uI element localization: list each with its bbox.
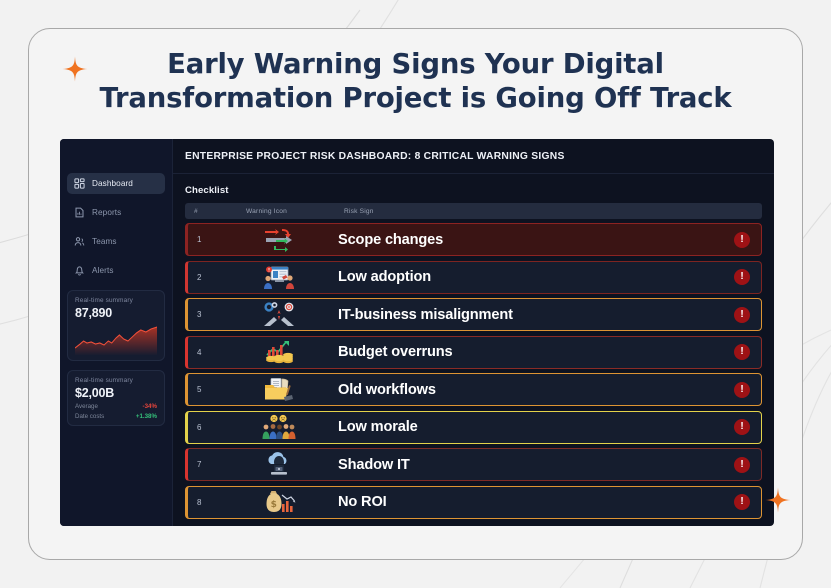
sparkline-chart <box>75 324 157 355</box>
alert-icon: ! <box>734 269 750 285</box>
row-badge[interactable]: ! <box>723 307 761 323</box>
row-number: 2 <box>197 273 240 282</box>
no-roi-moneybag-icon: $ <box>240 489 338 515</box>
sidebar-item-alerts[interactable]: Alerts <box>67 260 165 281</box>
old-workflow-folder-icon <box>240 377 338 403</box>
risk-sign-label: Low morale <box>338 419 723 435</box>
dashboard-header: ENTERPRISE PROJECT RISK DASHBOARD: 8 CRI… <box>173 139 774 174</box>
row-number: 6 <box>197 423 240 432</box>
sidebar-item-dashboard[interactable]: Dashboard <box>67 173 165 194</box>
row-badge[interactable]: ! <box>723 344 761 360</box>
page-title: Early Warning Signs Your Digital Transfo… <box>28 48 803 115</box>
shadow-it-cloud-icon <box>240 452 338 478</box>
sidebar-item-label: Teams <box>92 237 117 246</box>
column-header-number: # <box>194 208 246 215</box>
summary-card-label: Real-time summary <box>75 377 157 384</box>
risk-sign-label: Old workflows <box>338 382 723 398</box>
table-row[interactable]: 7 Shadow IT ! <box>185 448 762 481</box>
bell-icon <box>74 265 85 276</box>
checklist-rows: 1 Scope changes ! <box>185 223 762 519</box>
table-row[interactable]: 1 Scope changes ! <box>185 223 762 256</box>
section-title-checklist: Checklist <box>185 185 762 196</box>
dashboard-main: ENTERPRISE PROJECT RISK DASHBOARD: 8 CRI… <box>173 139 774 526</box>
table-row[interactable]: 6 <box>185 411 762 444</box>
sidebar-item-teams[interactable]: Teams <box>67 231 165 252</box>
dashboard-content: Checklist # Warning Icon Risk Sign 1 <box>173 174 774 526</box>
row-number: 5 <box>197 385 240 394</box>
svg-text:!: ! <box>268 267 270 273</box>
document-chart-icon <box>74 207 85 218</box>
dashboard-header-title: ENTERPRISE PROJECT RISK DASHBOARD: 8 CRI… <box>185 151 565 162</box>
summary-metric-date-costs: Date costs +1.38% <box>75 413 157 420</box>
svg-text:$: $ <box>271 500 277 510</box>
alert-icon: ! <box>734 382 750 398</box>
table-header-row: # Warning Icon Risk Sign <box>185 203 762 219</box>
scope-change-arrows-icon <box>240 227 338 253</box>
risk-sign-label: Shadow IT <box>338 457 723 473</box>
summary-card-label: Real-time summary <box>75 297 157 304</box>
misalignment-gears-icon <box>240 302 338 328</box>
metric-key: Date costs <box>75 413 104 420</box>
alert-icon: ! <box>734 419 750 435</box>
low-adoption-users-icon: ! <box>240 264 338 290</box>
summary-card-value: 87,890 <box>75 306 157 320</box>
row-number: 3 <box>197 310 240 319</box>
risk-sign-label: Low adoption <box>338 269 723 285</box>
low-morale-people-icon <box>240 414 338 440</box>
table-row[interactable]: 5 Old workflows ! <box>185 373 762 406</box>
budget-overrun-chart-icon <box>240 339 338 365</box>
summary-card-revenue: Real-time summary $2,00B Average -34% Da… <box>67 370 165 426</box>
table-row[interactable]: 4 <box>185 336 762 369</box>
summary-metric-average: Average -34% <box>75 403 157 410</box>
column-header-warning-icon: Warning Icon <box>246 208 344 215</box>
risk-sign-label: No ROI <box>338 494 723 510</box>
row-number: 8 <box>197 498 240 507</box>
alert-icon: ! <box>734 457 750 473</box>
row-badge[interactable]: ! <box>723 269 761 285</box>
risk-sign-label: Budget overruns <box>338 344 723 360</box>
people-icon <box>74 236 85 247</box>
row-badge[interactable]: ! <box>723 419 761 435</box>
sidebar-item-label: Dashboard <box>92 179 133 188</box>
table-row[interactable]: 2 ! <box>185 261 762 294</box>
alert-icon: ! <box>734 232 750 248</box>
sidebar: Dashboard Reports Teams Alerts <box>60 139 173 526</box>
sidebar-item-reports[interactable]: Reports <box>67 202 165 223</box>
row-badge[interactable]: ! <box>723 457 761 473</box>
metric-key: Average <box>75 403 98 410</box>
row-number: 4 <box>197 348 240 357</box>
summary-card-visits: Real-time summary 87,890 <box>67 290 165 361</box>
metric-value: -34% <box>143 403 157 410</box>
page-title-wrapper: Early Warning Signs Your Digital Transfo… <box>28 48 803 115</box>
sidebar-item-label: Reports <box>92 208 121 217</box>
column-header-risk-sign: Risk Sign <box>344 208 753 215</box>
row-number: 1 <box>197 235 240 244</box>
alert-icon: ! <box>734 344 750 360</box>
table-row[interactable]: 8 $ No ROI ! <box>185 486 762 519</box>
risk-sign-label: IT-business misalignment <box>338 307 723 323</box>
risk-sign-label: Scope changes <box>338 232 723 248</box>
alert-icon: ! <box>734 494 750 510</box>
summary-card-value: $2,00B <box>75 386 157 400</box>
metric-value: +1.38% <box>136 413 157 420</box>
row-badge[interactable]: ! <box>723 232 761 248</box>
alert-icon: ! <box>734 307 750 323</box>
sidebar-item-label: Alerts <box>92 266 114 275</box>
row-badge[interactable]: ! <box>723 382 761 398</box>
row-badge[interactable]: ! <box>723 494 761 510</box>
dashboard-panel: Dashboard Reports Teams Alerts <box>60 139 774 526</box>
grid-icon <box>74 178 85 189</box>
row-number: 7 <box>197 460 240 469</box>
table-row[interactable]: 3 <box>185 298 762 331</box>
